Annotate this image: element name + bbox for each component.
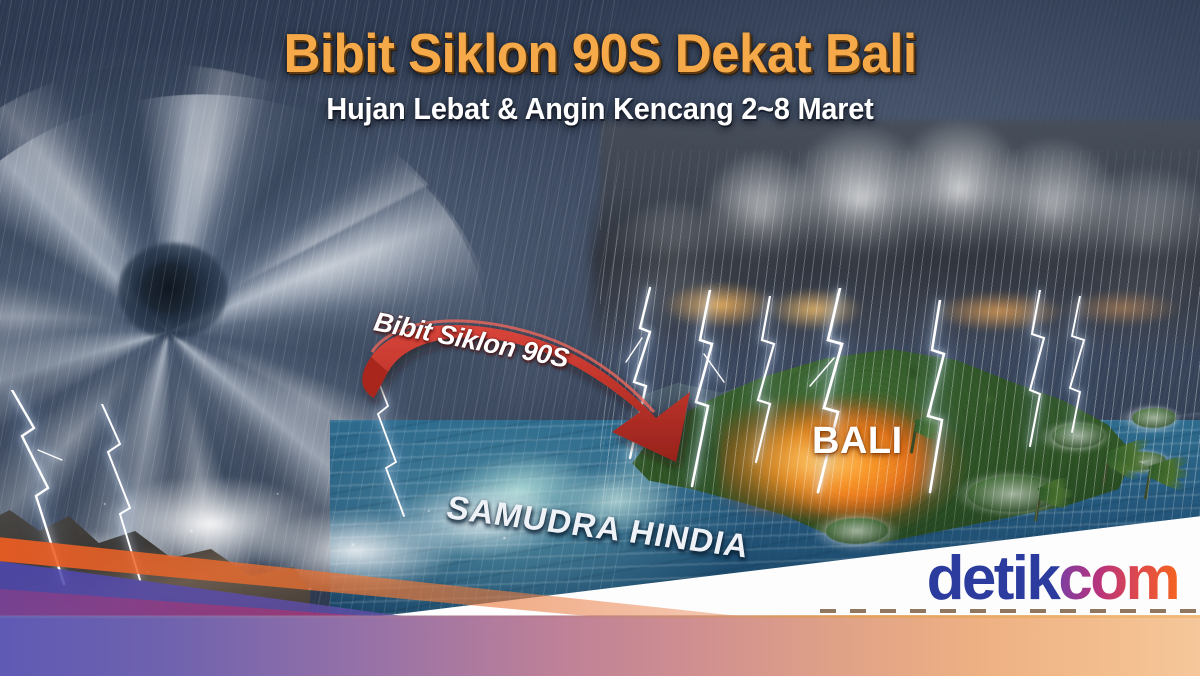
logo-word-com: com <box>1058 544 1178 613</box>
page-title: Bibit Siklon 90S Dekat Bali <box>42 24 1158 82</box>
title-block: Bibit Siklon 90S Dekat Bali Hujan Lebat … <box>0 24 1200 127</box>
lightning-bolt-icon <box>910 300 976 496</box>
bottom-bar-hairline <box>0 615 1200 618</box>
lightning-bolt-icon <box>800 288 872 496</box>
detikcom-logo[interactable]: detikcom <box>927 548 1178 610</box>
lightning-bolt-icon <box>1058 296 1108 436</box>
page-subtitle: Hujan Lebat & Angin Kencang 2~8 Maret <box>42 91 1158 127</box>
lightning-bolt-icon <box>676 290 740 490</box>
lightning-bolt-icon <box>744 296 802 466</box>
map-label-bali: BALI <box>812 420 903 463</box>
lightning-bolt-icon <box>366 370 422 520</box>
logo-word-detik: detik <box>927 544 1059 613</box>
infographic-canvas: Bibit Siklon 90S BALI SAMUDRA HINDIA Bib… <box>0 0 1200 676</box>
bottom-gradient-bar <box>0 616 1200 676</box>
